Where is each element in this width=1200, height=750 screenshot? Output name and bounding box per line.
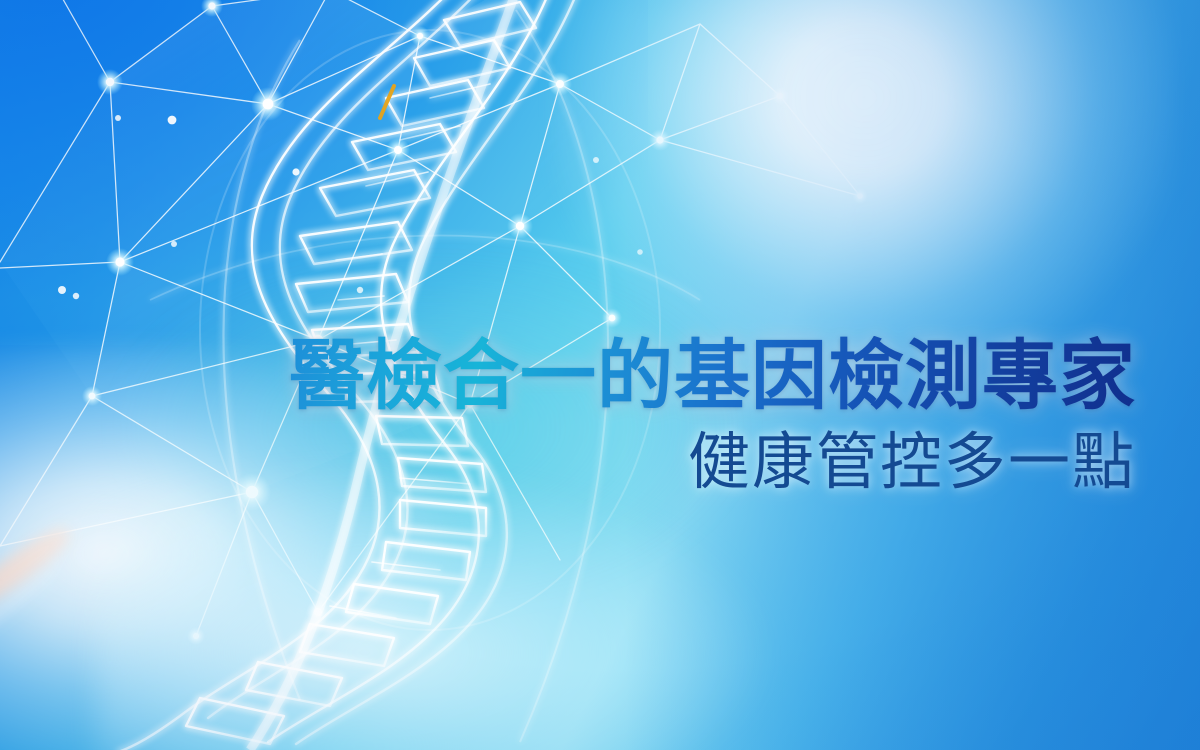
banner-text-block: 醫檢合一的基因檢測專家 健康管控多一點: [0, 336, 1136, 496]
banner-subheadline: 健康管控多一點: [0, 429, 1136, 496]
banner-headline: 醫檢合一的基因檢測專家: [0, 336, 1136, 417]
promo-banner: 醫檢合一的基因檢測專家 健康管控多一點: [0, 0, 1200, 750]
pointing-finger: [0, 518, 196, 750]
